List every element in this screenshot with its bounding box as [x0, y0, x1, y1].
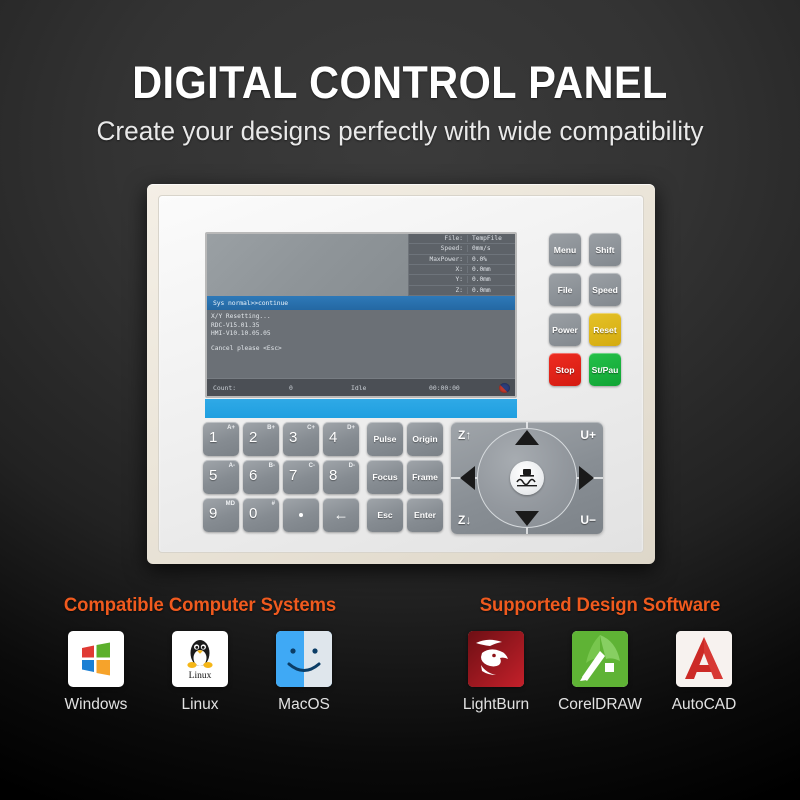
compatible-systems-logos: Windows [0, 631, 400, 714]
key-6-superscript: B- [269, 463, 275, 469]
macos-finder-icon [276, 631, 332, 687]
device-faceplate: File: TempFile Speed: 0mm/s MaxPower: 0.… [158, 195, 644, 553]
key-2-label: 2 [249, 429, 257, 446]
decimal-point-icon [299, 513, 303, 517]
origin-button[interactable]: Origin [407, 422, 443, 456]
lcd-status-banner: Sys normal>>continue [207, 296, 515, 310]
software-label-coreldraw: CorelDRAW [558, 696, 642, 714]
status-machine-state: Idle [351, 384, 429, 392]
system-label-linux: Linux [181, 696, 218, 714]
key-4-label: 4 [329, 429, 337, 446]
lcd-info-panel: File: TempFile Speed: 0mm/s MaxPower: 0.… [409, 234, 515, 296]
speed-button[interactable]: Speed [589, 273, 621, 306]
key-backspace[interactable]: ← [323, 498, 359, 532]
coreldraw-balloon-icon [572, 631, 628, 687]
page-subtitle: Create your designs perfectly with wide … [12, 115, 788, 147]
arrow-right-icon[interactable] [579, 466, 594, 490]
compatible-systems-column: Compatible Computer Systems Windows [0, 594, 400, 714]
lcd-info-value: 0.0mm [468, 266, 512, 273]
lcd-log-line: RDC-V15.01.35 [211, 322, 511, 331]
lcd-info-row: Z: 0.0mm [409, 286, 515, 296]
brand-logo-icon [499, 383, 510, 393]
key-0[interactable]: # 0 [243, 498, 279, 532]
lcd-info-row: X: 0.0mm [409, 265, 515, 275]
menu-button[interactable]: Menu [549, 233, 581, 266]
system-item-macos: MacOS [265, 631, 343, 714]
software-item-autocad: AutoCAD [665, 631, 743, 714]
laser-head-icon [515, 467, 539, 489]
key-decimal-point[interactable] [283, 498, 319, 532]
key-8[interactable]: D- 8 [323, 460, 359, 494]
lcd-info-row: MaxPower: 0.0% [409, 255, 515, 265]
control-panel-device: File: TempFile Speed: 0mm/s MaxPower: 0.… [147, 184, 655, 564]
key-3-superscript: C+ [307, 425, 315, 431]
lcd-log-line: HMI-V10.10.05.05 [211, 330, 511, 339]
key-7-superscript: C- [309, 463, 315, 469]
esc-button[interactable]: Esc [367, 498, 403, 532]
key-5-label: 5 [209, 467, 217, 484]
lightburn-dragon-icon [468, 631, 524, 687]
product-banner: DIGITAL CONTROL PANEL Create your design… [0, 0, 800, 800]
key-6[interactable]: B- 6 [243, 460, 279, 494]
key-2[interactable]: B+ 2 [243, 422, 279, 456]
start-pause-button[interactable]: St/Pau [589, 353, 621, 386]
lcd-info-label: Speed: [412, 245, 468, 252]
file-button[interactable]: File [549, 273, 581, 306]
key-9-superscript: MD [226, 501, 235, 507]
reset-button[interactable]: Reset [589, 313, 621, 346]
lcd-info-label: File: [412, 235, 468, 242]
key-5[interactable]: A- 5 [203, 460, 239, 494]
key-7-label: 7 [289, 467, 297, 484]
lcd-info-value: 0.0% [468, 256, 512, 263]
system-item-windows: Windows [57, 631, 135, 714]
header: DIGITAL CONTROL PANEL Create your design… [0, 58, 800, 147]
key-0-label: 0 [249, 505, 257, 522]
compatible-systems-heading: Compatible Computer Systems [10, 594, 390, 617]
key-6-label: 6 [249, 467, 257, 484]
lcd-info-label: X: [412, 266, 468, 273]
lcd-preview-canvas [207, 234, 409, 296]
supported-software-logos: LightBurn CorelDRAW [400, 631, 800, 714]
svg-text:Linux: Linux [189, 671, 212, 681]
macos-logo-tile [276, 631, 332, 687]
windows-logo-icon [76, 639, 116, 679]
function-button-cluster: Menu Shift File Speed Power Reset Stop S… [549, 233, 621, 386]
shift-button[interactable]: Shift [589, 233, 621, 266]
laser-head-center-button[interactable] [510, 461, 544, 495]
system-label-windows: Windows [65, 696, 128, 714]
lcd-info-label: Z: [412, 287, 468, 294]
key-1-label: 1 [209, 429, 217, 446]
lcd-log-area: X/Y Resetting... RDC-V15.01.35 HMI-V10.1… [207, 310, 515, 378]
page-title: DIGITAL CONTROL PANEL [32, 58, 768, 108]
lcd-log-line: X/Y Resetting... [211, 313, 511, 322]
key-3-label: 3 [289, 429, 297, 446]
autocad-a-icon [676, 631, 732, 687]
key-9[interactable]: MD 9 [203, 498, 239, 532]
key-7[interactable]: C- 7 [283, 460, 319, 494]
software-label-lightburn: LightBurn [463, 696, 529, 714]
status-count-label: Count: [213, 384, 289, 392]
pulse-button[interactable]: Pulse [367, 422, 403, 456]
key-2-superscript: B+ [267, 425, 275, 431]
linux-logo-tile: Linux [172, 631, 228, 687]
software-item-coreldraw: CorelDRAW [561, 631, 639, 714]
lcd-main-area: File: TempFile Speed: 0mm/s MaxPower: 0.… [207, 234, 515, 296]
lcd-info-label: Y: [412, 276, 468, 283]
operation-key-group: Pulse Origin Focus Frame Esc Enter [367, 422, 443, 532]
lcd-info-value: TempFile [468, 235, 512, 242]
autocad-logo-tile [676, 631, 732, 687]
focus-button[interactable]: Focus [367, 460, 403, 494]
key-9-label: 9 [209, 505, 217, 522]
key-1-superscript: A+ [227, 425, 235, 431]
software-item-lightburn: LightBurn [457, 631, 535, 714]
lcd-info-value: 0.0mm [468, 276, 512, 283]
z-down-button[interactable]: Z↓ [458, 514, 471, 527]
system-label-macos: MacOS [278, 696, 330, 714]
blue-accent-strip [205, 399, 517, 418]
coreldraw-logo-tile [572, 631, 628, 687]
backspace-arrow-icon: ← [334, 508, 349, 523]
system-item-linux: Linux Linux [161, 631, 239, 714]
key-8-superscript: D- [349, 463, 355, 469]
key-3[interactable]: C+ 3 [283, 422, 319, 456]
u-plus-button[interactable]: U+ [580, 429, 596, 442]
key-4[interactable]: D+ 4 [323, 422, 359, 456]
lightburn-logo-tile [468, 631, 524, 687]
power-button[interactable]: Power [549, 313, 581, 346]
key-4-superscript: D+ [347, 425, 355, 431]
linux-tux-icon: Linux [178, 636, 222, 682]
lcd-info-row: File: TempFile [409, 234, 515, 244]
frame-button[interactable]: Frame [407, 460, 443, 494]
lcd-info-row: Y: 0.0mm [409, 275, 515, 285]
z-up-button[interactable]: Z↑ [458, 429, 471, 442]
direction-pad: Z↑ U+ Z↓ U− [451, 422, 603, 534]
status-elapsed-time: 00:00:00 [429, 384, 509, 392]
lcd-info-label: MaxPower: [412, 256, 468, 263]
enter-button[interactable]: Enter [407, 498, 443, 532]
stop-button[interactable]: Stop [549, 353, 581, 386]
lcd-log-prompt: Cancel please <Esc> [211, 345, 511, 354]
arrow-up-icon[interactable] [515, 430, 539, 445]
numeric-keypad: A+ 1 B+ 2 C+ 3 D+ 4 A- 5 [203, 422, 359, 532]
supported-software-heading: Supported Design Software [410, 594, 790, 617]
key-1[interactable]: A+ 1 [203, 422, 239, 456]
arrow-down-icon[interactable] [515, 511, 539, 526]
windows-logo-tile [68, 631, 124, 687]
key-5-superscript: A- [229, 463, 235, 469]
key-8-label: 8 [329, 467, 337, 484]
arrow-left-icon[interactable] [460, 466, 475, 490]
software-label-autocad: AutoCAD [672, 696, 737, 714]
supported-software-column: Supported Design Software [400, 594, 800, 714]
lcd-screen: File: TempFile Speed: 0mm/s MaxPower: 0.… [205, 232, 517, 398]
compatibility-section: Compatible Computer Systems Windows [0, 594, 800, 714]
lcd-status-bar: Count: 0 Idle 00:00:00 [207, 378, 515, 396]
lcd-info-value: 0mm/s [468, 245, 512, 252]
u-minus-button[interactable]: U− [580, 514, 596, 527]
lcd-info-value: 0.0mm [468, 287, 512, 294]
key-0-superscript: # [272, 501, 275, 507]
status-count-value: 0 [289, 384, 351, 392]
lcd-info-row: Speed: 0mm/s [409, 244, 515, 254]
